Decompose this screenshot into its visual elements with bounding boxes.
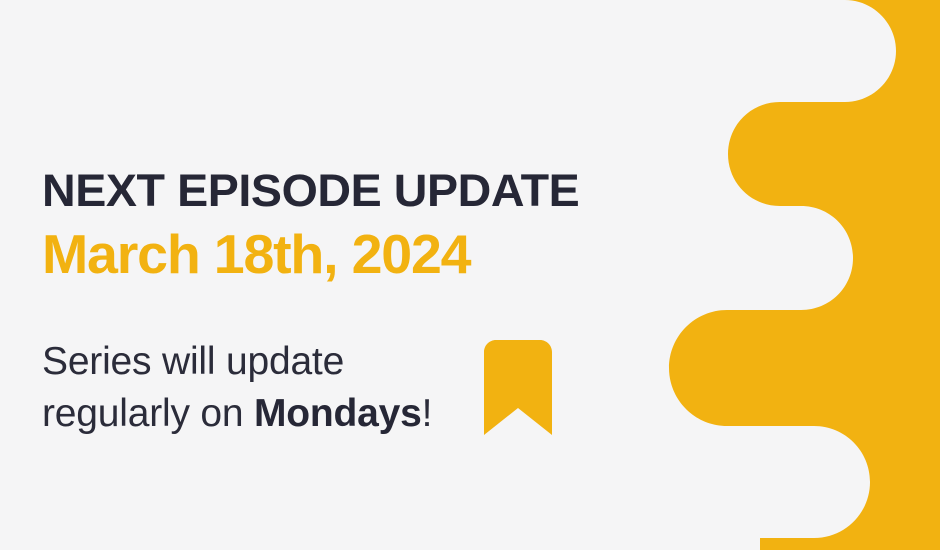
body-line-2-strong: Mondays [254, 392, 422, 435]
body-copy: Series will update regularly on Mondays! [42, 336, 482, 440]
body-line-2-prefix: regularly on [42, 392, 254, 435]
headline-group: NEXT EPISODE UPDATE March 18th, 2024 [42, 168, 682, 282]
next-episode-update-banner: NEXT EPISODE UPDATE March 18th, 2024 Ser… [0, 0, 940, 550]
body-line-1: Series will update [42, 340, 344, 383]
page-title: NEXT EPISODE UPDATE [42, 168, 704, 213]
body-line-2-suffix: ! [422, 392, 433, 435]
episode-date: March 18th, 2024 [42, 213, 688, 282]
bookmark-icon [484, 340, 552, 435]
